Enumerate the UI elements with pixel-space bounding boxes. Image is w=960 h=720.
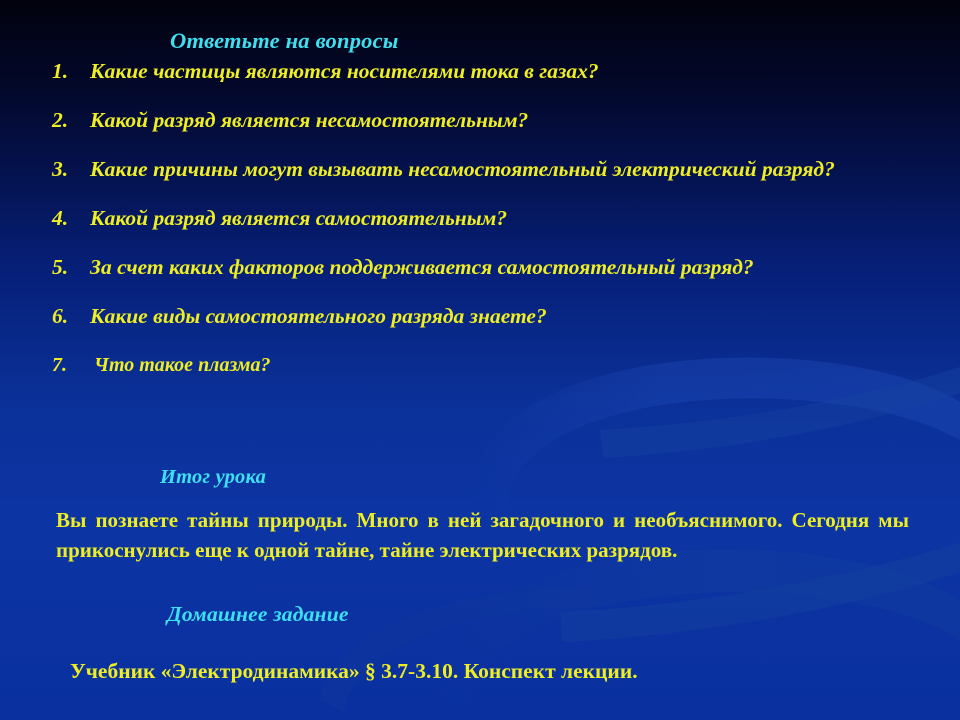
- question-item: 7. Что такое плазма?: [52, 352, 932, 379]
- lesson-summary-paragraph: Вы познаете тайны природы. Много в ней з…: [56, 505, 909, 565]
- homework-assignment-text: Учебник «Электродинамика» § 3.7-3.10. Ко…: [70, 659, 638, 684]
- question-item: 1. Какие частицы являются носителями ток…: [52, 58, 932, 85]
- question-text: Какие виды самостоятельного разряда знае…: [90, 303, 932, 330]
- question-item: 6. Какие виды самостоятельного разряда з…: [52, 303, 932, 330]
- question-text: Какие частицы являются носителями тока в…: [90, 58, 932, 85]
- question-item: 2. Какой разряд является несамостоятельн…: [52, 107, 932, 134]
- question-number: 2.: [52, 107, 90, 134]
- question-number: 6.: [52, 303, 90, 330]
- questions-list: 1. Какие частицы являются носителями ток…: [52, 58, 932, 379]
- question-text: Какой разряд является самостоятельным?: [90, 205, 932, 232]
- question-number: 5.: [52, 254, 90, 281]
- question-item: 4. Какой разряд является самостоятельным…: [52, 205, 932, 232]
- question-text: Какие причины могут вызывать несамостоят…: [90, 156, 932, 183]
- answer-questions-heading: Ответьте на вопросы: [170, 28, 399, 54]
- lesson-summary-heading: Итог урока: [160, 466, 266, 489]
- question-number: 3.: [52, 156, 90, 183]
- question-item: 5. За счет каких факторов поддерживается…: [52, 254, 932, 281]
- homework-heading: Домашнее задание: [167, 602, 349, 627]
- question-number: 4.: [52, 205, 90, 232]
- presentation-slide: Ответьте на вопросы 1. Какие частицы явл…: [0, 0, 960, 720]
- question-number: 1.: [52, 58, 90, 85]
- question-item: 3. Какие причины могут вызывать несамост…: [52, 156, 932, 183]
- question-text: Что такое плазма?: [94, 352, 932, 379]
- question-text: Какой разряд является несамостоятельным?: [90, 107, 932, 134]
- question-text: За счет каких факторов поддерживается са…: [90, 254, 932, 281]
- slide-content: Ответьте на вопросы 1. Какие частицы явл…: [0, 0, 960, 720]
- question-number: 7.: [52, 352, 94, 379]
